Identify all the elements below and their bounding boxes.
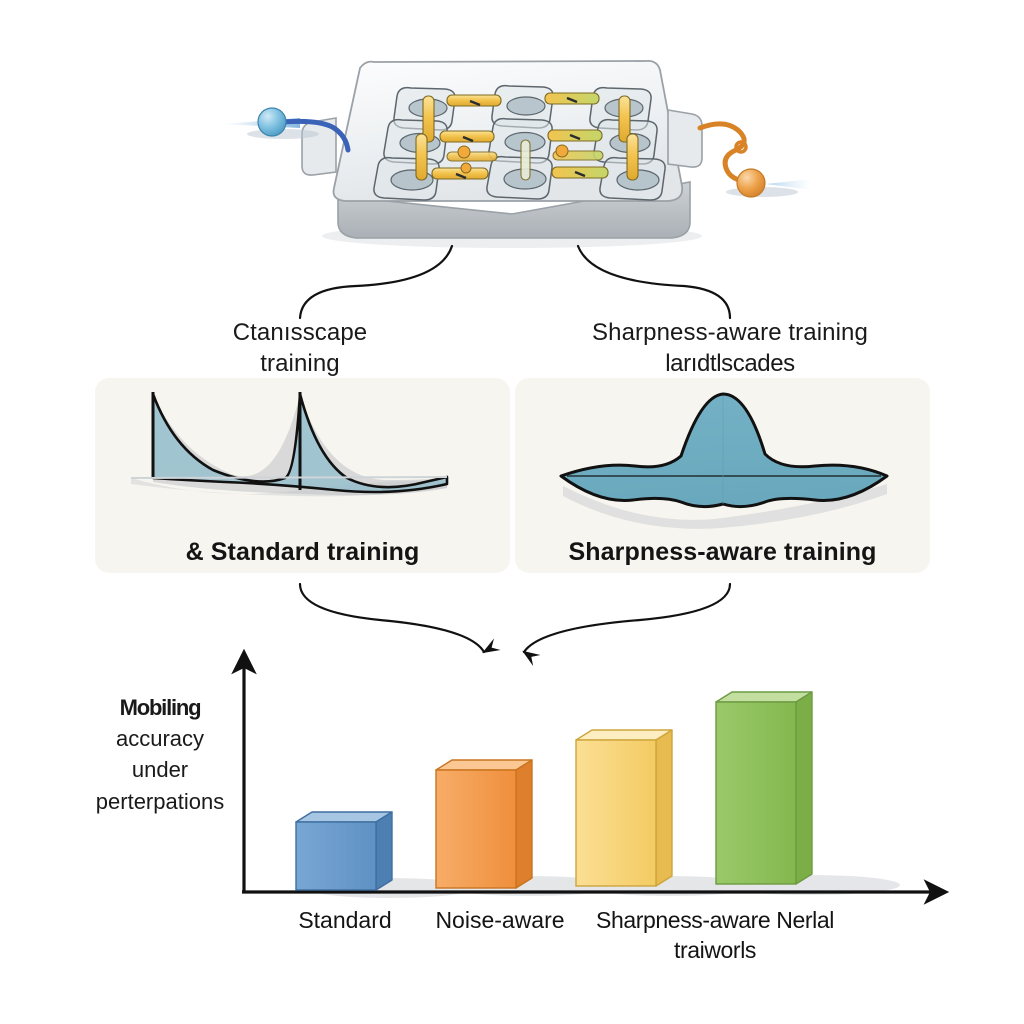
x-tick-sharpness-line2: traiworls — [570, 936, 860, 966]
bar-sharpness-aware-side — [656, 730, 672, 886]
x-tick-label-noise-aware: Noise-aware — [415, 906, 585, 936]
bar-standard[interactable] — [296, 812, 392, 890]
x-tick-label-standard: Standard — [265, 906, 425, 936]
bar-sharpness-aware[interactable] — [576, 730, 672, 886]
chart-y-axis-label: Mobiling accuracy under perterpations — [70, 692, 250, 817]
chip-to-branch-connectors — [0, 238, 1024, 330]
y-axis-label-line-4: perterpations — [70, 786, 250, 817]
x-tick-sharpness-line1: Sharpness-aware Nerlal — [596, 907, 834, 933]
bar-neural-networks[interactable] — [716, 692, 812, 884]
output-node — [737, 169, 765, 197]
bar-chart — [230, 640, 950, 910]
caption-standard-training: & Standard training — [95, 538, 510, 567]
figure-root: Ctanısscape training Sharpness-aware tra… — [0, 0, 1024, 1024]
y-axis-label-line-1: Mobiling — [70, 692, 250, 723]
caption-sharpness-aware-training: Sharpness-aware training — [515, 538, 930, 567]
connector-left — [300, 246, 452, 318]
bar-noise-aware-front — [436, 770, 516, 888]
bar-noise-aware-side — [516, 760, 532, 888]
bar-neural-networks-front — [716, 702, 796, 884]
x-tick-standard-line1: Standard — [298, 907, 391, 933]
chip-right-tab — [668, 110, 702, 167]
connector-right — [578, 246, 730, 318]
branch-label-left: Ctanısscape training — [175, 318, 425, 379]
flat-loss-surface — [561, 394, 887, 507]
bar-sharpness-aware-front — [576, 740, 656, 886]
y-axis-label-line-3: under — [70, 754, 250, 785]
branch-right-line2: larıdtlscades — [545, 349, 915, 380]
bar-neural-networks-side — [796, 692, 812, 884]
y-axis-label-line-2: accuracy — [70, 723, 250, 754]
bar-noise-aware[interactable] — [436, 760, 532, 888]
bar-standard-front — [296, 822, 376, 890]
branch-left-line2: training — [175, 349, 425, 380]
branch-right-line1: Sharpness-aware training — [592, 319, 868, 346]
branch-label-right: Sharpness-aware training larıdtlscades — [545, 318, 915, 379]
chip-illustration — [0, 0, 1024, 260]
x-tick-noise-aware-line1: Noise-aware — [435, 907, 564, 933]
sharp-baseline — [131, 477, 447, 478]
input-node — [258, 108, 286, 136]
bar-standard-side — [376, 812, 392, 890]
branch-left-line1: Ctanısscape — [233, 319, 368, 346]
x-tick-label-sharpness-aware: Sharpness-aware Nerlal traiworls — [570, 906, 860, 966]
